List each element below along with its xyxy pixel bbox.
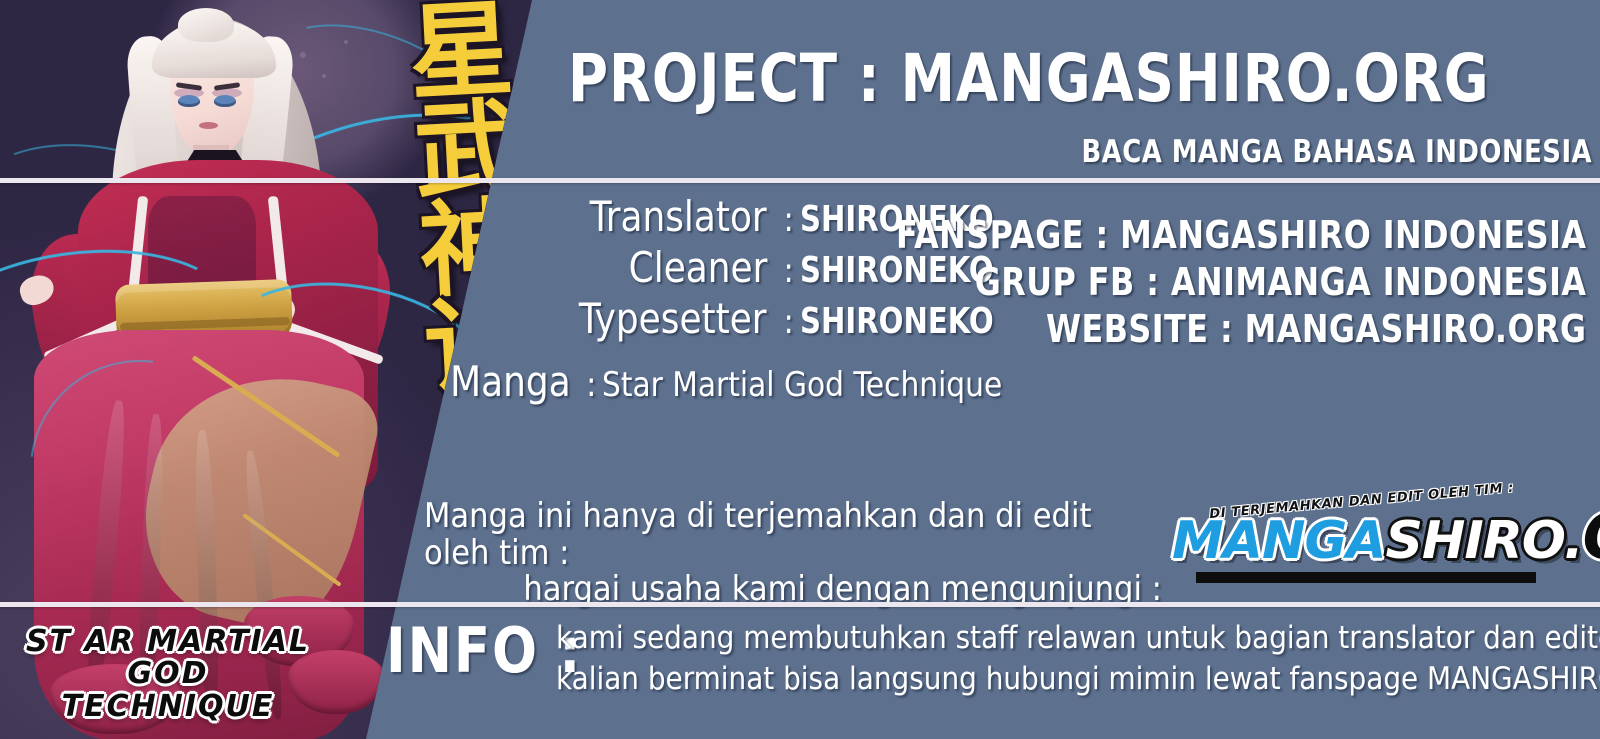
character-hair-bun [178, 8, 234, 42]
link-fanspage[interactable]: FANSPAGE : MANGASHIRO INDONESIA [896, 212, 1586, 259]
logo-word-org: ORG [1583, 500, 1600, 573]
credit-role-label: Typesetter [579, 294, 767, 343]
credit-role-label: Manga [450, 357, 571, 406]
link-website[interactable]: WEBSITE : MANGASHIRO.ORG [896, 306, 1586, 353]
tagline: BACA MANGA BAHASA INDONESIA [1081, 134, 1592, 170]
visit-note-line-1: Manga ini hanya di terjemahkan dan di ed… [424, 498, 1164, 571]
credit-row-manga: Manga : Star Martial God Technique [455, 357, 1015, 406]
mangashiro-logo[interactable]: DI TERJEMAHKAN DAN EDIT OLEH TIM : MANGA… [1172, 492, 1590, 588]
divider-top [0, 178, 1600, 183]
info-text-line-2: kalian berminat bisa langsung hubungi mi… [556, 659, 1596, 700]
character-lips [199, 122, 218, 129]
eye-right [214, 95, 236, 107]
credit-role-label: Translator [590, 192, 767, 241]
page-title: PROJECT : MANGASHIRO.ORG [568, 40, 1490, 117]
info-text: kami sedang membutuhkan staff relawan un… [556, 618, 1596, 700]
visit-note: Manga ini hanya di terjemahkan dan di ed… [424, 498, 1164, 608]
link-grup-fb[interactable]: GRUP FB : ANIMANGA INDONESIA [896, 259, 1586, 306]
credit-separator: : [771, 200, 799, 240]
credit-role-label: Cleaner [629, 243, 768, 292]
credit-separator: : [771, 302, 799, 342]
series-title-logo: ST AR MARTIAL GOD TECHNIQUE [18, 626, 318, 723]
contact-links-list: FANSPAGE : MANGASHIRO INDONESIA GRUP FB … [844, 212, 1586, 353]
credit-separator: : [771, 251, 799, 291]
logo-underline-bar [1196, 572, 1536, 583]
info-text-line-1: kami sedang membutuhkan staff relawan un… [556, 618, 1596, 659]
divider-bottom [0, 602, 1600, 607]
series-title-line-1: ST AR MARTIAL [26, 624, 310, 659]
credit-separator: : [574, 365, 602, 405]
series-title-line-2: GOD TECHNIQUE [18, 658, 318, 723]
scanlation-credits-banner: 星 武 神 诀 ST AR MARTIAL GOD TECHNIQUE PROJ… [0, 0, 1600, 739]
credit-value: Star Martial God Technique [602, 365, 1002, 405]
eye-left [178, 95, 200, 107]
info-label: INFO : [386, 614, 582, 687]
